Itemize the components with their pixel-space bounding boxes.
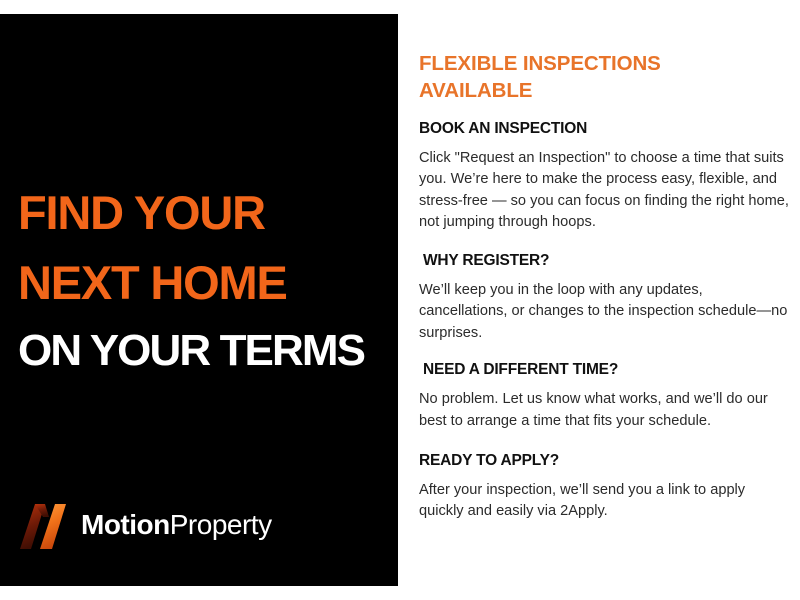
section-body-need-a-different-time: No problem. Let us know what works, and … xyxy=(419,389,791,432)
section-heading-need-a-different-time: NEED A DIFFERENT TIME? xyxy=(419,361,791,380)
section-ready-to-apply: READY TO APPLY? After your inspection, w… xyxy=(419,452,791,523)
brand-wordmark-primary: Motion xyxy=(81,509,170,540)
section-body-book-an-inspection: Click "Request an Inspection" to choose … xyxy=(419,148,791,234)
marketing-flyer-page: FIND YOUR NEXT HOME ON YOUR TERMS xyxy=(0,0,800,600)
section-body-ready-to-apply: After your inspection, we’ll send you a … xyxy=(419,480,791,523)
brand-wordmark-secondary: Property xyxy=(170,509,272,540)
section-heading-why-register: WHY REGISTER? xyxy=(419,252,791,271)
hero-headline-line-3: ON YOUR TERMS xyxy=(18,329,390,373)
section-body-why-register: We’ll keep you in the loop with any upda… xyxy=(419,280,791,345)
hero-panel: FIND YOUR NEXT HOME ON YOUR TERMS xyxy=(0,14,398,586)
hero-headline-line-2: NEXT HOME xyxy=(18,259,390,306)
content-panel: FLEXIBLE INSPECTIONS AVAILABLE BOOK AN I… xyxy=(419,50,791,523)
motion-property-m-mark-icon xyxy=(18,500,70,550)
section-book-an-inspection: BOOK AN INSPECTION Click "Request an Ins… xyxy=(419,120,791,234)
page-title: FLEXIBLE INSPECTIONS AVAILABLE xyxy=(419,50,719,104)
hero-headline-line-1: FIND YOUR xyxy=(18,189,390,236)
brand-logo: MotionProperty xyxy=(18,500,272,550)
hero-headline: FIND YOUR NEXT HOME ON YOUR TERMS xyxy=(18,189,390,373)
section-need-a-different-time: NEED A DIFFERENT TIME? No problem. Let u… xyxy=(419,361,791,432)
section-why-register: WHY REGISTER? We’ll keep you in the loop… xyxy=(419,252,791,344)
section-heading-book-an-inspection: BOOK AN INSPECTION xyxy=(419,120,791,139)
brand-wordmark: MotionProperty xyxy=(81,511,272,539)
section-heading-ready-to-apply: READY TO APPLY? xyxy=(419,452,791,471)
